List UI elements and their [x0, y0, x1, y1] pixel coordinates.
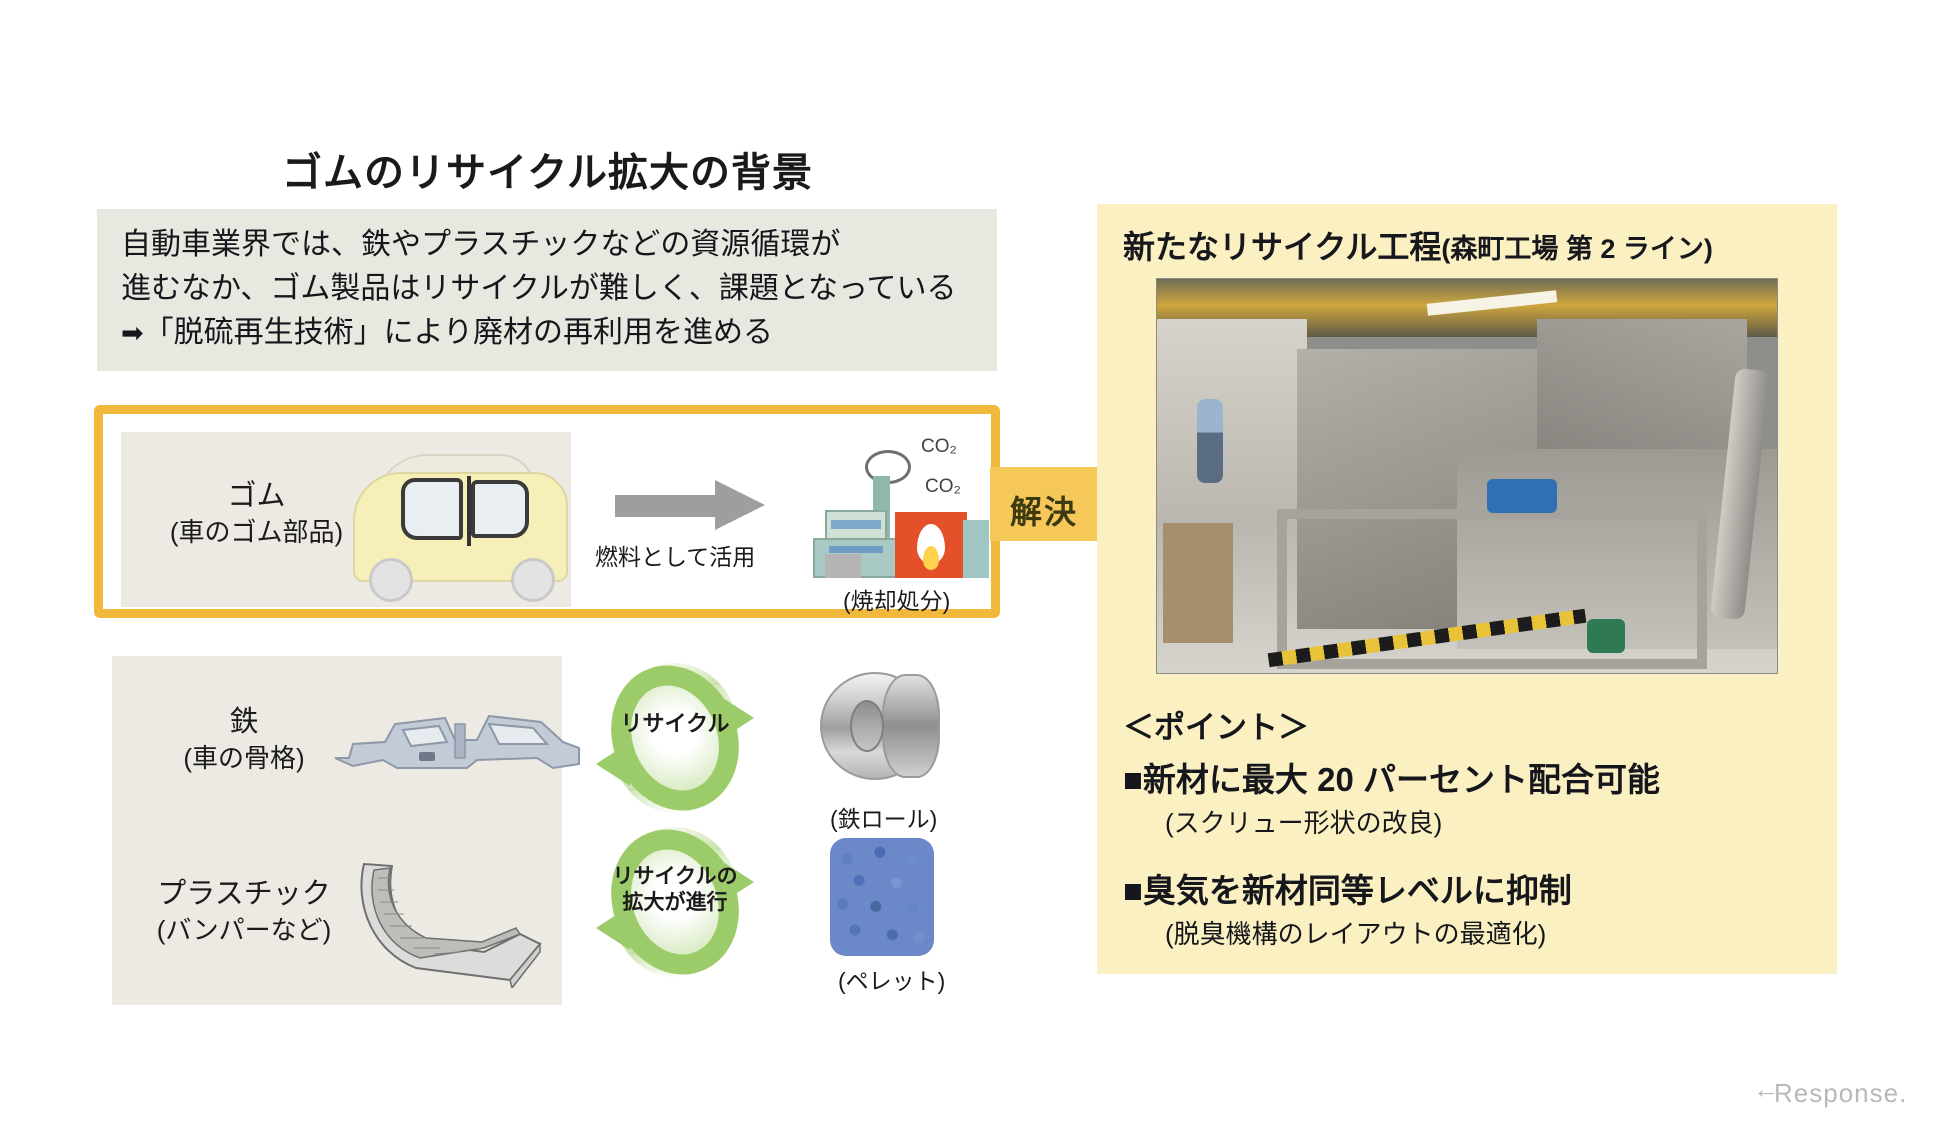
rubber-name: ゴム — [227, 480, 285, 512]
factory-photo — [1156, 278, 1778, 674]
right-panel: 新たなリサイクル工程(森町工場 第 2 ライン) ＜ポイント＞ ■新材に最大 2… — [1097, 204, 1837, 974]
watermark-arrow-icon: ← — [1753, 1074, 1780, 1105]
incinerator-icon — [803, 450, 1003, 590]
recycle-arrows-icon-plastic: リサイクルの 拡大が進行 — [600, 822, 750, 982]
car-illustration-icon — [353, 454, 571, 604]
fuel-usage-arrow-icon — [615, 486, 765, 524]
point-2-bullet: ■臭気を新材同等レベルに抑制 — [1123, 864, 1823, 912]
right-arrow-icon: ➡ — [121, 318, 144, 348]
intro-line-2: 進むなか、ゴム製品はリサイクルが難しく、課題となっている — [121, 267, 977, 311]
plastic-sub: (バンパーなど) — [130, 914, 358, 948]
point-1-sub: (スクリュー形状の改良) — [1165, 803, 1823, 840]
intro-line-3-text: 「脱硫再生技術」により廃材の再利用を進める — [144, 316, 773, 349]
chassis-illustration-icon — [327, 696, 587, 801]
intro-text-box: 自動車業界では、鉄やプラスチックなどの資源循環が 進むなか、ゴム製品はリサイクル… — [97, 209, 997, 371]
plastic-name: プラスチック — [157, 878, 330, 910]
iron-panel: 鉄 (車の骨格) — [112, 656, 562, 831]
intro-line-3: ➡「脱硫再生技術」により廃材の再利用を進める — [121, 311, 977, 355]
incineration-caption: (焼却処分) — [843, 582, 950, 616]
point-2-sub: (脱臭機構のレイアウトの最適化) — [1165, 914, 1823, 951]
points-header: ＜ポイント＞ — [1123, 702, 1823, 747]
rubber-label: ゴム (車のゴム部品) — [159, 478, 354, 549]
iron-sub: (車の骨格) — [144, 742, 344, 776]
watermark-text: Response. — [1774, 1078, 1907, 1108]
plastic-recycle-label: リサイクルの 拡大が進行 — [600, 864, 750, 917]
plastic-label: プラスチック (バンパーなど) — [130, 876, 358, 947]
intro-line-1: 自動車業界では、鉄やプラスチックなどの資源循環が — [121, 223, 977, 267]
response-watermark: ←Response. — [1753, 1078, 1907, 1109]
point-1-bullet: ■新材に最大 20 パーセント配合可能 — [1123, 753, 1823, 801]
pellets-icon — [830, 838, 934, 956]
iron-recycle-label: リサイクル — [600, 710, 750, 738]
right-panel-title: 新たなリサイクル工程(森町工場 第 2 ライン) — [1123, 222, 1713, 268]
slide-canvas: ゴムのリサイクル拡大の背景 自動車業界では、鉄やプラスチックなどの資源循環が 進… — [0, 0, 1936, 1128]
iron-label: 鉄 (車の骨格) — [144, 704, 344, 775]
iron-name: 鉄 — [229, 706, 258, 738]
fuel-usage-label: 燃料として活用 — [595, 538, 755, 572]
plastic-recycle-line2: 拡大が進行 — [623, 891, 728, 914]
steel-coil-caption: (鉄ロール) — [830, 800, 937, 834]
bumper-illustration-icon — [334, 848, 564, 988]
right-panel-title-main: 新たなリサイクル工程 — [1123, 229, 1441, 265]
right-panel-title-paren: (森町工場 第 2 ライン) — [1441, 234, 1713, 264]
pellets-caption: (ペレット) — [838, 962, 945, 996]
co2-label-1: CO₂ — [921, 436, 957, 458]
rubber-panel: ゴム (車のゴム部品) — [121, 432, 571, 607]
plastic-panel: プラスチック (バンパーなど) — [112, 830, 562, 1005]
solve-arrow-label: 解決 — [1010, 487, 1078, 533]
plastic-recycle-line1: リサイクルの — [613, 865, 738, 888]
points-section: ＜ポイント＞ ■新材に最大 20 パーセント配合可能 (スクリュー形状の改良) … — [1123, 702, 1823, 951]
co2-label-2: CO₂ — [925, 476, 961, 498]
recycle-arrows-icon-iron: リサイクル — [600, 658, 750, 818]
steel-coil-icon — [820, 672, 950, 784]
rubber-sub: (車のゴム部品) — [159, 516, 354, 550]
material-row-rubber-highlight: ゴム (車のゴム部品) 燃料として活用 — [94, 405, 1000, 618]
page-title: ゴムのリサイクル拡大の背景 — [282, 140, 813, 198]
